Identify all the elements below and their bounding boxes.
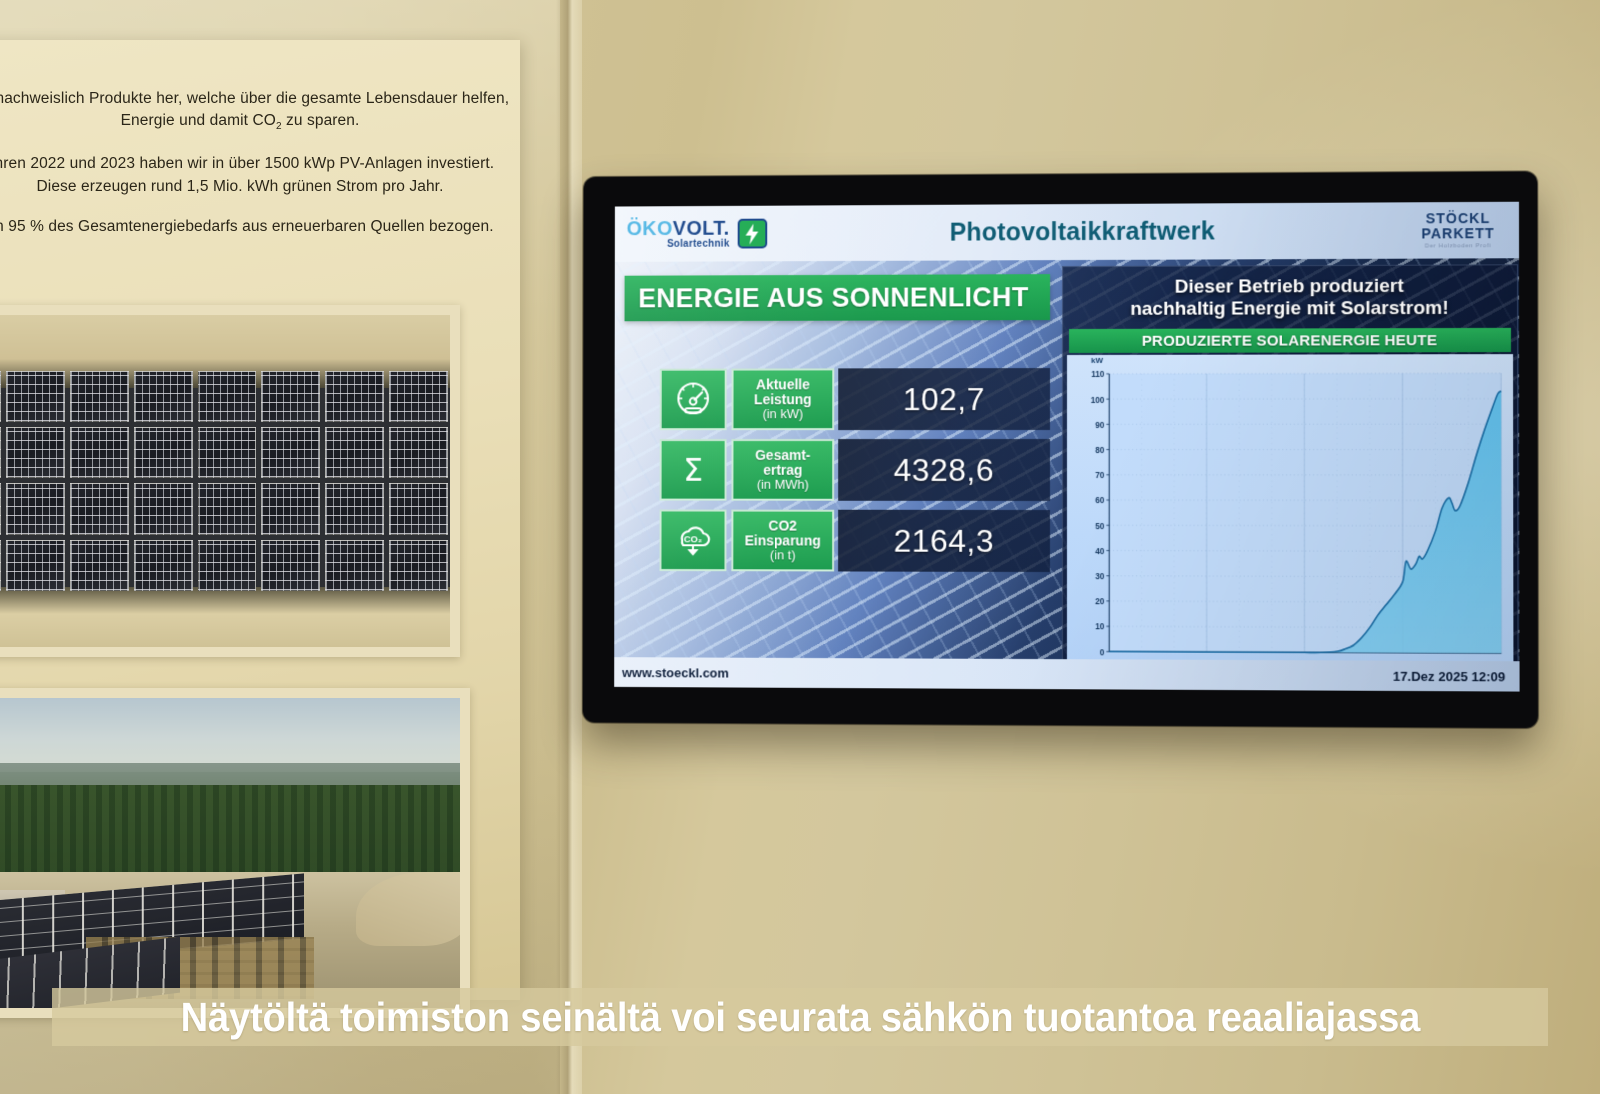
energy-banner: ENERGIE AUS SONNENLICHT [625, 274, 1051, 321]
svg-text:10: 10 [1095, 621, 1104, 632]
gauge-icon [660, 369, 727, 431]
timestamp: 17.Dez 2025 12:09 [1393, 668, 1505, 684]
chart-canvas: 010203040506070809010011000:0001:0002:00… [1071, 358, 1507, 681]
kpi-label-total-yield: Gesamt- ertrag (in MWh) [731, 439, 834, 501]
poster-paragraph-3: en 95 % des Gesamtenergiebedarfs aus ern… [0, 216, 520, 238]
slide-header: ÖKOVOLT. Solartechnik Photovoltaikkraftw… [615, 202, 1519, 262]
svg-text:40: 40 [1095, 545, 1104, 556]
monitor-screen: ÖKOVOLT. Solartechnik Photovoltaikkraftw… [614, 202, 1519, 692]
svg-text:100: 100 [1091, 394, 1105, 405]
co2-cloud-icon: CO₂ [660, 509, 727, 571]
energy-banner-label: ENERGIE AUS SONNENLICHT [638, 282, 1028, 314]
chart-y-unit-label: kW [1091, 356, 1103, 365]
svg-text:30: 30 [1095, 571, 1104, 582]
poster-text-block: ellt nachweislich Produkte her, welche ü… [0, 88, 520, 256]
kpi-label-line2: Einsparung [745, 533, 821, 548]
oekovolt-wordmark: ÖKOVOLT. Solartechnik [627, 218, 730, 249]
kpi-label-line2: ertrag [763, 463, 802, 478]
chart-heading: PRODUZIERTE SOLARENERGIE HEUTE [1069, 328, 1511, 353]
image-caption-text: Näytöltä toimiston seinältä voi seurata … [180, 994, 1420, 1041]
logo-dot: . [724, 217, 730, 239]
svg-text:60: 60 [1095, 495, 1104, 506]
logo-word-volt: VOLT [673, 217, 724, 239]
aerial-sky [0, 698, 460, 772]
kpi-value-current-power: 102,7 [838, 368, 1050, 430]
oekovolt-logo: ÖKOVOLT. Solartechnik [627, 218, 767, 249]
svg-text:70: 70 [1095, 470, 1104, 481]
wall-poster: ellt nachweislich Produkte her, welche ü… [0, 40, 520, 1000]
wall-mounted-monitor: ÖKOVOLT. Solartechnik Photovoltaikkraftw… [583, 171, 1538, 728]
slide-footer: www.stoeckl.com 17.Dez 2025 12:09 [614, 657, 1519, 691]
svg-text:0: 0 [1100, 647, 1105, 658]
kpi-label-co2-savings: CO2 Einsparung (in t) [731, 510, 834, 572]
poster-paragraph-2: ahren 2022 und 2023 haben wir in über 15… [0, 153, 520, 198]
kpi-unit: (in t) [770, 549, 796, 563]
kpi-row-total-yield: Σ Gesamt- ertrag (in MWh) 4328,6 [660, 439, 1050, 501]
kpi-label-current-power: Aktuelle Leistung (in kW) [732, 368, 835, 430]
photo-scene: ellt nachweislich Produkte her, welche ü… [0, 0, 1600, 1094]
kpi-unit: (in MWh) [757, 478, 809, 492]
company-url: www.stoeckl.com [622, 665, 729, 680]
slide-title: Photovoltaikkraftwerk [747, 216, 1421, 248]
aerial-solar-plant-photo [0, 688, 470, 1018]
svg-text:20: 20 [1095, 596, 1104, 607]
partner-logo-line2: PARKETT [1421, 226, 1494, 241]
svg-text:110: 110 [1091, 369, 1104, 380]
kpi-row-current-power: Aktuelle Leistung (in kW) 102,7 [660, 368, 1050, 430]
kpi-label-line1: Gesamt- [755, 448, 810, 463]
solar-panel-rows-photo [0, 305, 460, 657]
kpi-unit: (in kW) [762, 407, 803, 421]
kpi-label-line1: CO2 [768, 518, 796, 533]
claim-line-1: Dieser Betrieb produziert [1069, 275, 1511, 299]
partner-logo-line1: STÖCKL [1421, 211, 1494, 226]
pv-ground-bottom [0, 587, 450, 647]
stoeckl-parkett-logo: STÖCKL PARKETT Der Holzboden Profi [1421, 211, 1494, 249]
pv-field-graphic [0, 315, 450, 647]
kpi-list: Aktuelle Leistung (in kW) 102,7 Σ Gesamt… [659, 368, 1050, 581]
kpi-label-line1: Aktuelle Leistung [734, 377, 833, 407]
kpi-value-co2-savings: 2164,3 [838, 510, 1050, 572]
svg-text:Σ: Σ [683, 451, 703, 489]
wall-corner-seam [556, 0, 582, 1094]
svg-text:CO₂: CO₂ [684, 534, 702, 545]
svg-text:80: 80 [1095, 445, 1104, 456]
svg-text:50: 50 [1095, 520, 1104, 531]
solar-production-card: Dieser Betrieb produziert nachhaltig Ene… [1062, 264, 1519, 688]
logo-tagline: Solartechnik [627, 239, 730, 249]
solar-production-chart: kW 010203040506070809010011000:0001:0002… [1067, 354, 1513, 683]
partner-logo-line3: Der Holzboden Profi [1421, 243, 1494, 250]
kpi-row-co2-savings: CO₂ CO2 Einsparung (in t) 2164,3 [660, 509, 1050, 572]
poster-paragraph-1: ellt nachweislich Produkte her, welche ü… [0, 88, 520, 135]
kpi-value-total-yield: 4328,6 [838, 439, 1050, 501]
aerial-forest [0, 785, 460, 878]
aerial-graphic [0, 698, 460, 1008]
image-caption-bar: Näytöltä toimiston seinältä voi seurata … [52, 988, 1548, 1046]
sustainability-claim: Dieser Betrieb produziert nachhaltig Ene… [1063, 265, 1517, 323]
pv-module-grid [0, 371, 450, 590]
logo-word-oeko: ÖKO [627, 218, 673, 240]
svg-text:90: 90 [1095, 419, 1104, 430]
claim-line-2: nachhaltig Energie mit Solarstrom! [1069, 298, 1511, 321]
sigma-icon: Σ [660, 439, 727, 501]
